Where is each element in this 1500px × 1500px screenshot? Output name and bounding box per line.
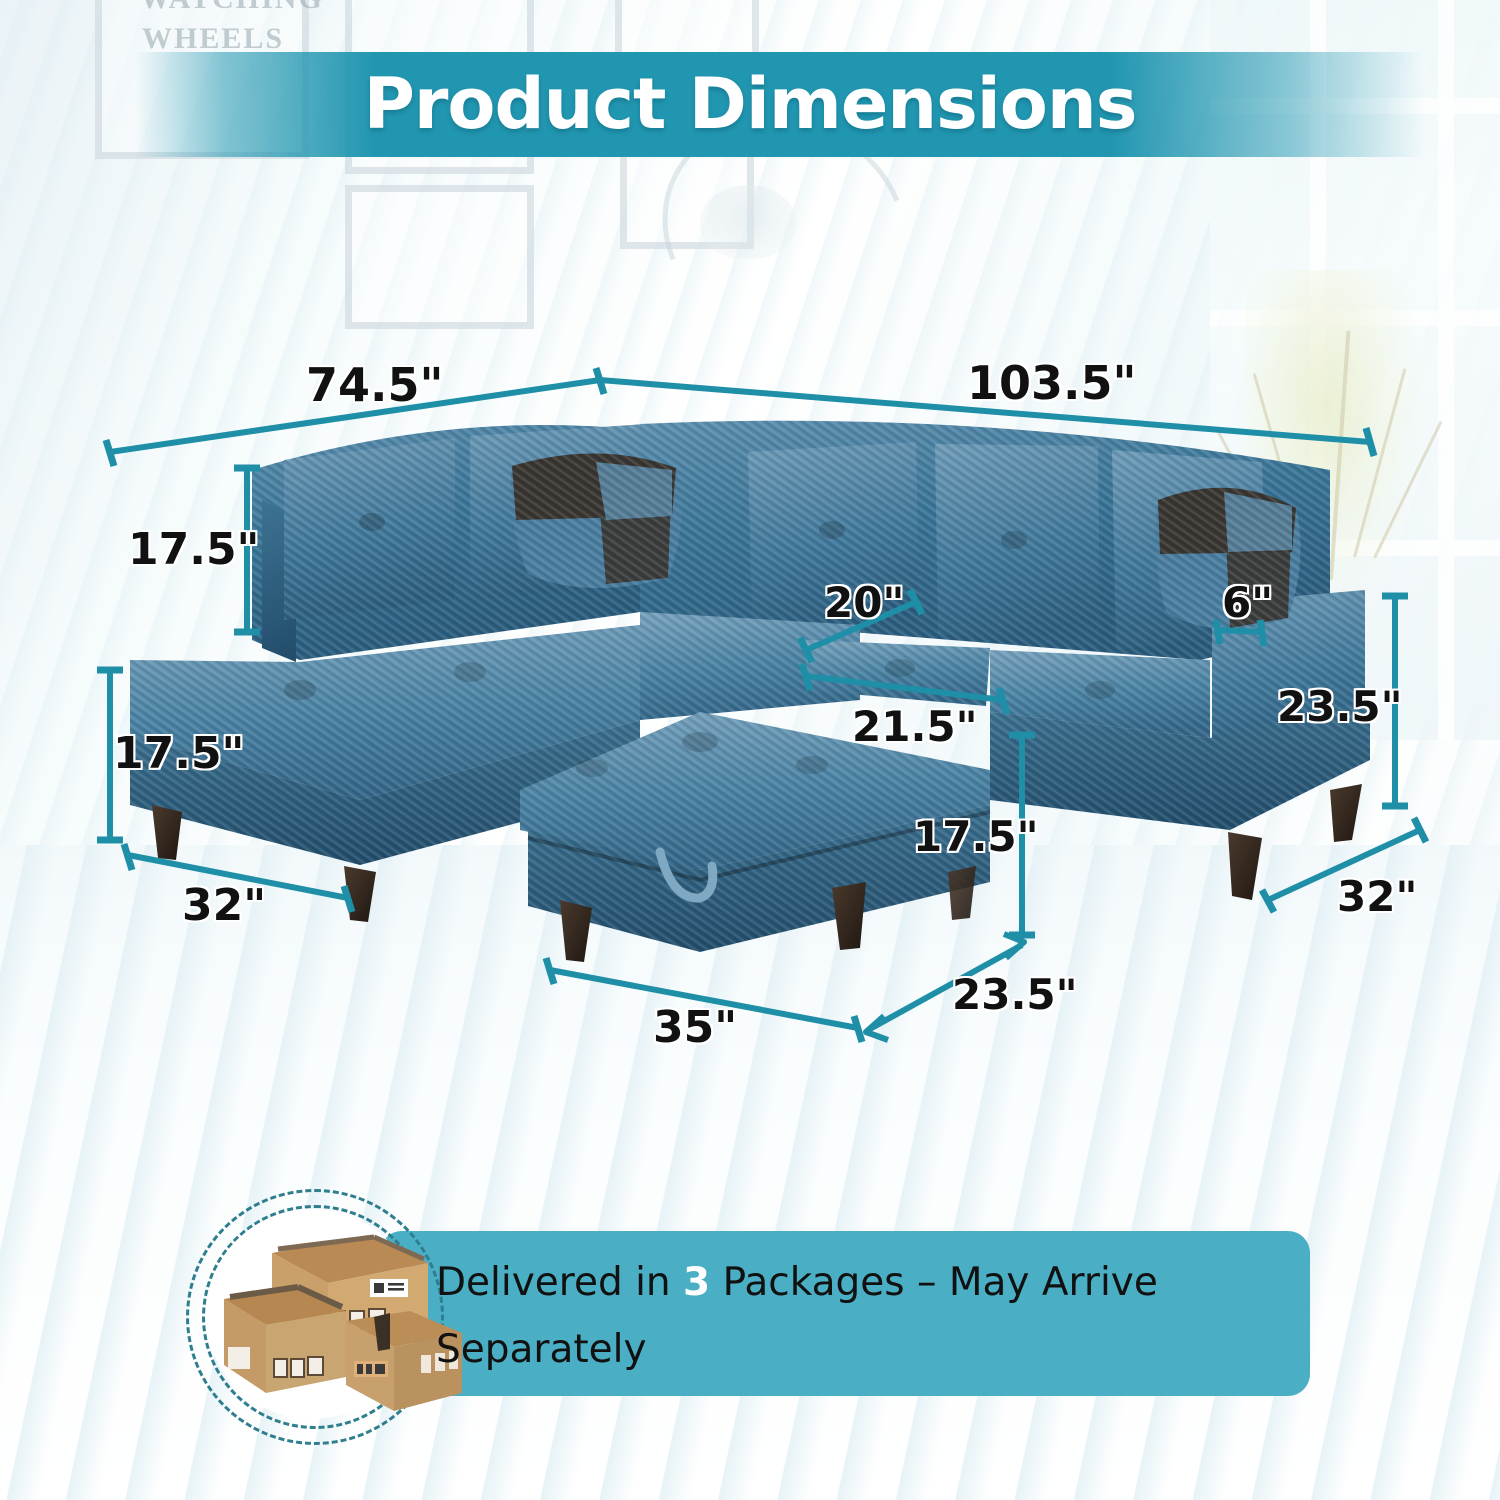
dimension-label-arm-height: 23.5" — [1277, 682, 1403, 731]
dimension-label-ottoman-depth: 23.5" — [952, 970, 1078, 1019]
product-dimensions-infographic: WATCHING WHEELS Product Dimensions — [0, 0, 1500, 1500]
dimension-label-back-height: 17.5" — [128, 524, 259, 575]
dimension-label-21-5: 21.5" — [852, 702, 978, 751]
dimline-21-5 — [806, 676, 1003, 700]
delivery-package-count: 3 — [683, 1260, 710, 1305]
dimension-label-ottoman-width: 35" — [653, 1002, 737, 1053]
delivery-line-2: Separately — [436, 1327, 1286, 1372]
dimline-6 — [1218, 630, 1262, 632]
delivery-line-1: Delivered in 3 Packages – May Arrive — [436, 1260, 1286, 1305]
delivery-badge: Delivered in 3 Packages – May Arrive Sep… — [180, 1195, 1310, 1430]
dimension-label-6: 6" — [1222, 578, 1273, 627]
delivery-badge-text: Delivered in 3 Packages – May Arrive Sep… — [436, 1243, 1286, 1388]
dimension-label-seat-height: 17.5" — [113, 728, 244, 779]
dimension-label-74-5: 74.5" — [306, 358, 443, 412]
delivery-prefix: Delivered in — [436, 1260, 683, 1305]
dimension-label-ottoman-height: 17.5" — [913, 812, 1039, 861]
delivery-suffix: Packages – May Arrive — [710, 1260, 1158, 1305]
dimension-label-chaise-depth: 32" — [182, 880, 266, 931]
dimension-label-103-5: 103.5" — [967, 356, 1136, 410]
dimension-label-right-depth: 32" — [1337, 872, 1417, 921]
dimension-label-20: 20" — [824, 578, 904, 627]
stacked-boxes-icon — [218, 1225, 468, 1415]
